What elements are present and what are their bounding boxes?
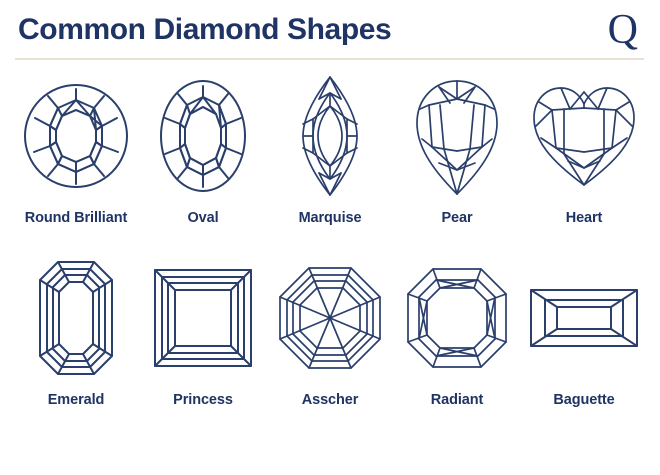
shape-label: Pear <box>441 210 472 226</box>
diamond-shape-grid: Round Brilliant <box>0 66 660 408</box>
shape-label: Heart <box>566 210 603 226</box>
shape-row-1: Round Brilliant <box>0 66 660 226</box>
emerald-diamond-icon <box>36 258 116 378</box>
shape-cell-radiant[interactable]: Radiant <box>395 258 519 408</box>
shape-row-2: Emerald Princess <box>0 248 660 408</box>
shape-cell-marquise[interactable]: Marquise <box>268 76 392 226</box>
round-brilliant-diamond-icon <box>22 76 130 196</box>
heart-diamond-icon <box>530 76 638 196</box>
marquise-diamond-icon <box>297 76 363 196</box>
radiant-diamond-icon <box>405 258 509 378</box>
shape-cell-emerald[interactable]: Emerald <box>14 258 138 408</box>
shape-label: Asscher <box>302 392 359 408</box>
shape-cell-baguette[interactable]: Baguette <box>522 258 646 408</box>
shape-label: Princess <box>173 392 233 408</box>
shape-cell-princess[interactable]: Princess <box>141 258 265 408</box>
pear-diamond-icon <box>412 76 502 196</box>
shape-cell-asscher[interactable]: Asscher <box>268 258 392 408</box>
shape-cell-oval[interactable]: Oval <box>141 76 265 226</box>
shape-label: Emerald <box>48 392 105 408</box>
page-title: Common Diamond Shapes <box>18 15 391 45</box>
shape-label: Marquise <box>299 210 362 226</box>
shape-label: Radiant <box>431 392 483 408</box>
shape-cell-pear[interactable]: Pear <box>395 76 519 226</box>
princess-diamond-icon <box>151 258 255 378</box>
asscher-diamond-icon <box>277 258 383 378</box>
page-header: Common Diamond Shapes Q <box>0 0 660 48</box>
header-divider <box>15 58 644 60</box>
shape-cell-round-brilliant[interactable]: Round Brilliant <box>14 76 138 226</box>
shape-label: Oval <box>187 210 218 226</box>
shape-label: Round Brilliant <box>25 210 127 226</box>
shape-cell-heart[interactable]: Heart <box>522 76 646 226</box>
baguette-diamond-icon <box>528 258 640 378</box>
shape-label: Baguette <box>553 392 614 408</box>
brand-q-logo: Q <box>608 9 644 51</box>
oval-diamond-icon <box>156 76 250 196</box>
